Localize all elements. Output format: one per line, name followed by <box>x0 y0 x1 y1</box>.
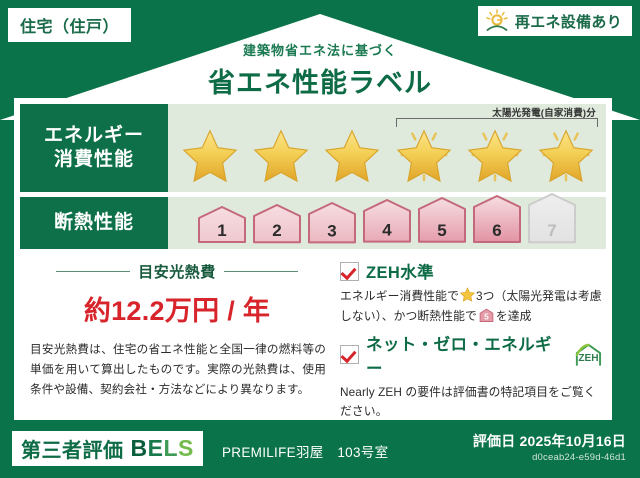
utility-cost-heading-text: 目安光熱費 <box>138 261 216 282</box>
title-main: 省エネ性能ラベル <box>0 61 640 100</box>
heading-rule-left <box>56 271 130 273</box>
utility-cost-heading: 目安光熱費 <box>22 261 332 282</box>
net-zero-title: ネット・ゼロ・エネルギー <box>366 331 562 379</box>
svg-text:1: 1 <box>217 221 226 240</box>
content-panel: エネルギー 消費性能 太陽光発電(自家消費)分 断熱性能 1234567 <box>14 98 612 420</box>
label-title: 建築物省エネ法に基づく 省エネ性能ラベル <box>0 40 640 100</box>
zeh-body-part2: を達成 <box>496 309 532 323</box>
house-pentagon-icon: 6 <box>471 194 523 245</box>
net-zero-block: ネット・ゼロ・エネルギー ZEH Nearly ZEH の要件は評価書の特記項目… <box>340 331 606 423</box>
insulation-label-text: 断熱性能 <box>54 211 134 235</box>
bels-en-text: BELS <box>131 435 194 462</box>
star-rating <box>174 120 602 188</box>
zeh-standard-title-row: ZEH水準 <box>340 259 606 283</box>
gold-star-icon <box>393 123 455 185</box>
house-pentagon-icon: 7 <box>526 192 578 245</box>
bels-logo: 第三者評価 BELS <box>12 431 203 466</box>
net-zero-title-row: ネット・ゼロ・エネルギー ZEH <box>340 331 606 379</box>
house-pentagon-icon: 3 <box>306 201 358 245</box>
zeh-standard-block: ZEH水準 エネルギー消費性能で3つ（太陽光発電は考慮しない）、かつ断熱性能で5… <box>340 259 606 327</box>
house-pentagon-icon: 5 <box>479 308 494 323</box>
red-check-icon <box>340 262 359 281</box>
svg-text:5: 5 <box>437 221 446 240</box>
svg-text:2: 2 <box>272 221 281 240</box>
house-pentagon-icon: 2 <box>251 203 303 245</box>
zeh-body-part1: エネルギー消費性能で <box>340 289 459 303</box>
label-footer: 第三者評価 BELS PREMILIFE羽屋 103号室 評価日 2025年10… <box>0 420 640 478</box>
svg-text:3: 3 <box>327 221 336 240</box>
lower-section: 目安光熱費 約12.2万円 / 年 目安光熱費は、住宅の省エネ性能と全国一律の燃… <box>22 259 606 409</box>
energy-performance-body: 太陽光発電(自家消費)分 <box>168 104 606 192</box>
renewable-equipment-badge: 再エネ設備あり <box>476 4 634 38</box>
svg-text:5: 5 <box>484 312 489 321</box>
gold-star-icon <box>179 123 241 185</box>
svg-text:4: 4 <box>382 221 392 240</box>
zeh-section: ZEH水準 エネルギー消費性能で3つ（太陽光発電は考慮しない）、かつ断熱性能で5… <box>332 259 606 409</box>
solar-bracket-label: 太陽光発電(自家消費)分 <box>492 105 596 119</box>
red-check-icon <box>340 345 359 364</box>
zeh-standard-title: ZEH水準 <box>366 259 434 283</box>
svg-text:7: 7 <box>547 221 556 240</box>
energy-performance-row: エネルギー 消費性能 太陽光発電(自家消費)分 <box>20 104 606 192</box>
insulation-performance-row: 断熱性能 1234567 <box>20 197 606 249</box>
net-zero-body: Nearly ZEH の要件は評価書の特記項目をご覧ください。 <box>340 383 606 423</box>
energy-label-line1: エネルギー <box>44 124 144 148</box>
svg-text:ZEH: ZEH <box>578 352 598 363</box>
gold-star-icon <box>464 123 526 185</box>
energy-performance-label: エネルギー 消費性能 <box>20 104 168 192</box>
utility-cost-note: 目安光熱費は、住宅の省エネ性能と全国一律の燃料等の単価を用いて算出したものです。… <box>22 340 332 400</box>
zeh-standard-body: エネルギー消費性能で3つ（太陽光発電は考慮しない）、かつ断熱性能で5を達成 <box>340 287 606 327</box>
zeh-house-logo: ZEH <box>573 342 606 368</box>
heading-rule-right <box>224 271 298 273</box>
utility-cost-section: 目安光熱費 約12.2万円 / 年 目安光熱費は、住宅の省エネ性能と全国一律の燃… <box>22 259 332 409</box>
energy-label-line2: 消費性能 <box>54 148 134 172</box>
gold-star-icon <box>460 287 475 302</box>
house-pentagon-icon: 5 <box>416 196 468 245</box>
insulation-level-scale: 1234567 <box>192 201 582 245</box>
evaluation-date: 評価日 2025年10月16日 <box>473 431 626 451</box>
renewable-badge-label: 再エネ設備あり <box>515 11 622 32</box>
insulation-performance-label: 断熱性能 <box>20 197 168 249</box>
energy-performance-label: 住宅（住戸） 再エネ設備あり 建築物省エネ法に基づく 省エネ性能ラベル エネルギ… <box>0 0 640 478</box>
house-pentagon-icon: 4 <box>361 198 413 245</box>
insulation-performance-body: 1234567 <box>168 197 606 249</box>
svg-text:6: 6 <box>492 221 501 240</box>
utility-cost-value: 約12.2万円 / 年 <box>22 289 332 328</box>
gold-star-icon <box>250 123 312 185</box>
house-type-tag: 住宅（住戸） <box>6 6 133 44</box>
bels-jp-text: 第三者評価 <box>21 434 124 463</box>
property-name: PREMILIFE羽屋 103号室 <box>222 441 388 461</box>
gold-star-icon <box>535 123 597 185</box>
evaluation-uid: d0ceab24-e59d-46d1 <box>532 452 626 463</box>
solar-sun-icon <box>484 9 510 33</box>
house-pentagon-icon: 1 <box>196 205 248 245</box>
gold-star-icon <box>321 123 383 185</box>
